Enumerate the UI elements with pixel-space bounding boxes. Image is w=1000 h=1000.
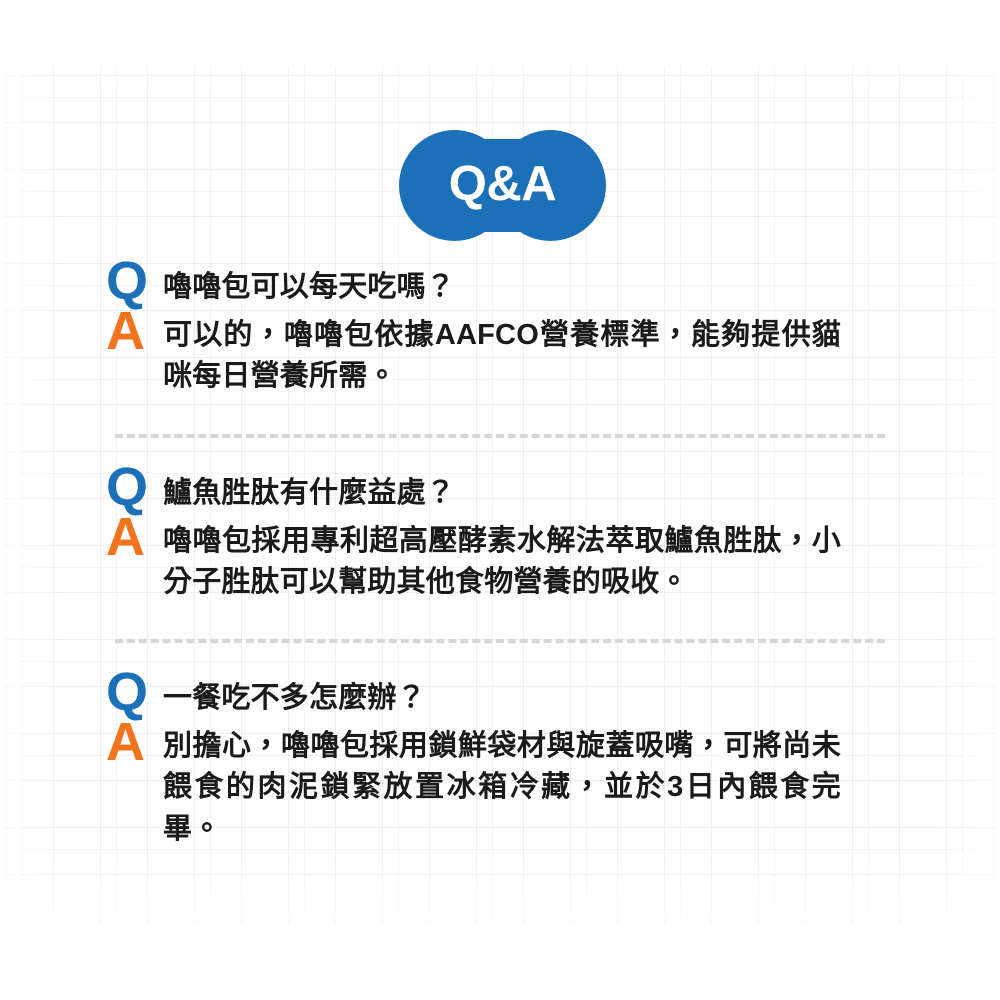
answer-marker: A	[106, 516, 163, 558]
faq-question-row: Q 一餐吃不多怎麼辦？	[0, 677, 1000, 719]
qa-page: Q&A Q 嚕嚕包可以每天吃嗎？ A 可以的，嚕嚕包依據AAFCO營養標準，能夠…	[0, 0, 1000, 1000]
answer-marker: A	[106, 310, 163, 352]
question-marker: Q	[106, 260, 163, 302]
faq-answer-row: A 嚕嚕包採用專利超高壓酵素水解法萃取鱸魚胜肽，小分子胜肽可以幫助其他食物營養的…	[0, 520, 1000, 603]
faq-item: Q 一餐吃不多怎麼辦？ A 別擔心，嚕嚕包採用鎖鮮袋材與旋蓋吸嘴，可將尚未餵食的…	[0, 677, 1000, 850]
qa-badge: Q&A	[399, 130, 606, 241]
qa-badge-label: Q&A	[399, 130, 606, 241]
faq-list: Q 嚕嚕包可以每天吃嗎？ A 可以的，嚕嚕包依據AAFCO營養標準，能夠提供貓咪…	[0, 266, 1000, 850]
faq-question-row: Q 鱸魚胜肽有什麼益處？	[0, 472, 1000, 514]
faq-answer-text: 別擔心，嚕嚕包採用鎖鮮袋材與旋蓋吸嘴，可將尚未餵食的肉泥鎖緊放置冰箱冷藏，並於3…	[163, 725, 841, 850]
faq-gap	[0, 398, 1000, 434]
faq-answer-row: A 別擔心，嚕嚕包採用鎖鮮袋材與旋蓋吸嘴，可將尚未餵食的肉泥鎖緊放置冰箱冷藏，並…	[0, 725, 1000, 850]
faq-answer-text: 嚕嚕包採用專利超高壓酵素水解法萃取鱸魚胜肽，小分子胜肽可以幫助其他食物營養的吸收…	[163, 520, 841, 603]
faq-item: Q 鱸魚胜肽有什麼益處？ A 嚕嚕包採用專利超高壓酵素水解法萃取鱸魚胜肽，小分子…	[0, 472, 1000, 604]
question-marker: Q	[106, 671, 163, 713]
answer-marker: A	[106, 721, 163, 763]
faq-question-text: 一餐吃不多怎麼辦？	[163, 677, 841, 719]
faq-gap	[0, 603, 1000, 639]
faq-question-row: Q 嚕嚕包可以每天吃嗎？	[0, 266, 1000, 308]
faq-answer-row: A 可以的，嚕嚕包依據AAFCO營養標準，能夠提供貓咪每日營養所需。	[0, 314, 1000, 397]
faq-answer-text: 可以的，嚕嚕包依據AAFCO營養標準，能夠提供貓咪每日營養所需。	[163, 314, 841, 397]
faq-item: Q 嚕嚕包可以每天吃嗎？ A 可以的，嚕嚕包依據AAFCO營養標準，能夠提供貓咪…	[0, 266, 1000, 398]
question-marker: Q	[106, 466, 163, 508]
faq-question-text: 嚕嚕包可以每天吃嗎？	[163, 266, 841, 308]
faq-question-text: 鱸魚胜肽有什麼益處？	[163, 472, 841, 514]
